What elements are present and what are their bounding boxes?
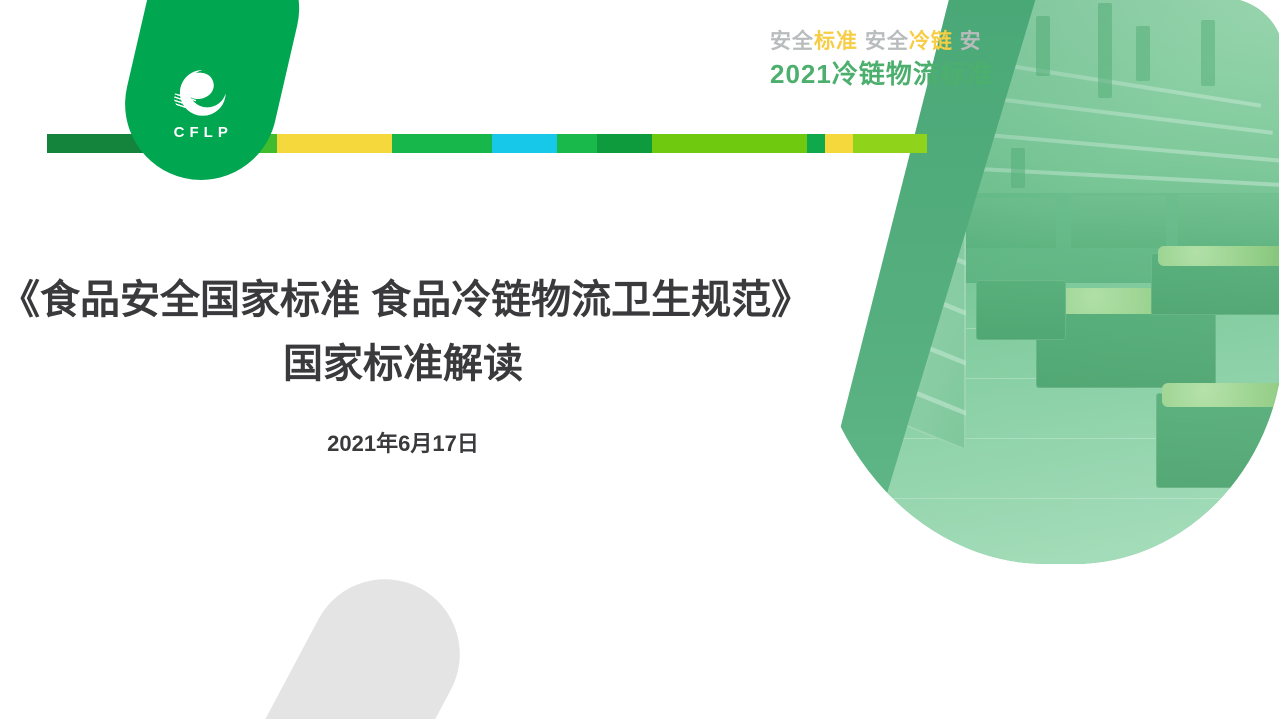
cflp-wordmark: CFLP [166, 124, 236, 141]
ribbon-segment-4 [492, 134, 557, 153]
slogan-line-2: 2021冷链物流标准 [770, 58, 994, 90]
slogan-seg-1: 安全 [770, 30, 814, 53]
campaign-slogan: 安全标准 安全冷链 安 2021冷链物流标准 [770, 28, 994, 90]
slogan-line-1: 安全标准 安全冷链 安 [770, 28, 994, 56]
ribbon-segment-9 [825, 134, 853, 153]
ribbon-segment-6 [597, 134, 652, 153]
slogan-seg-5: 安 [953, 30, 982, 53]
ribbon-segment-7 [652, 134, 807, 153]
slogan-seg-4: 冷链 [909, 30, 953, 53]
presentation-date: 2021年6月17日 [0, 426, 806, 458]
sphere-crescent-icon [174, 70, 228, 120]
slogan-seg-2: 标准 [814, 30, 858, 53]
page-subtitle: 国家标准解读 [0, 336, 806, 392]
ribbon-segment-3 [392, 134, 492, 153]
page-title: 《食品安全国家标准 食品冷链物流卫生规范》 [0, 272, 806, 328]
ribbon-segment-5 [557, 134, 597, 153]
ribbon-segment-8 [807, 134, 825, 153]
motion-lines-icon [173, 93, 197, 110]
cflp-logo: CFLP [166, 70, 236, 141]
ribbon-segment-2 [277, 134, 392, 153]
ribbon-segment-10 [853, 134, 927, 153]
decorative-gray-capsule [208, 553, 486, 719]
slogan-seg-3: 安全 [858, 30, 909, 53]
cflp-logo-capsule: CFLP [110, 0, 314, 195]
presentation-slide: 安全标准 安全冷链 安 2021冷链物流标准 CFLP 《食品安全国家标准 食品… [0, 0, 1279, 719]
title-block: 《食品安全国家标准 食品冷链物流卫生规范》 国家标准解读 2021年6月17日 [0, 272, 806, 458]
